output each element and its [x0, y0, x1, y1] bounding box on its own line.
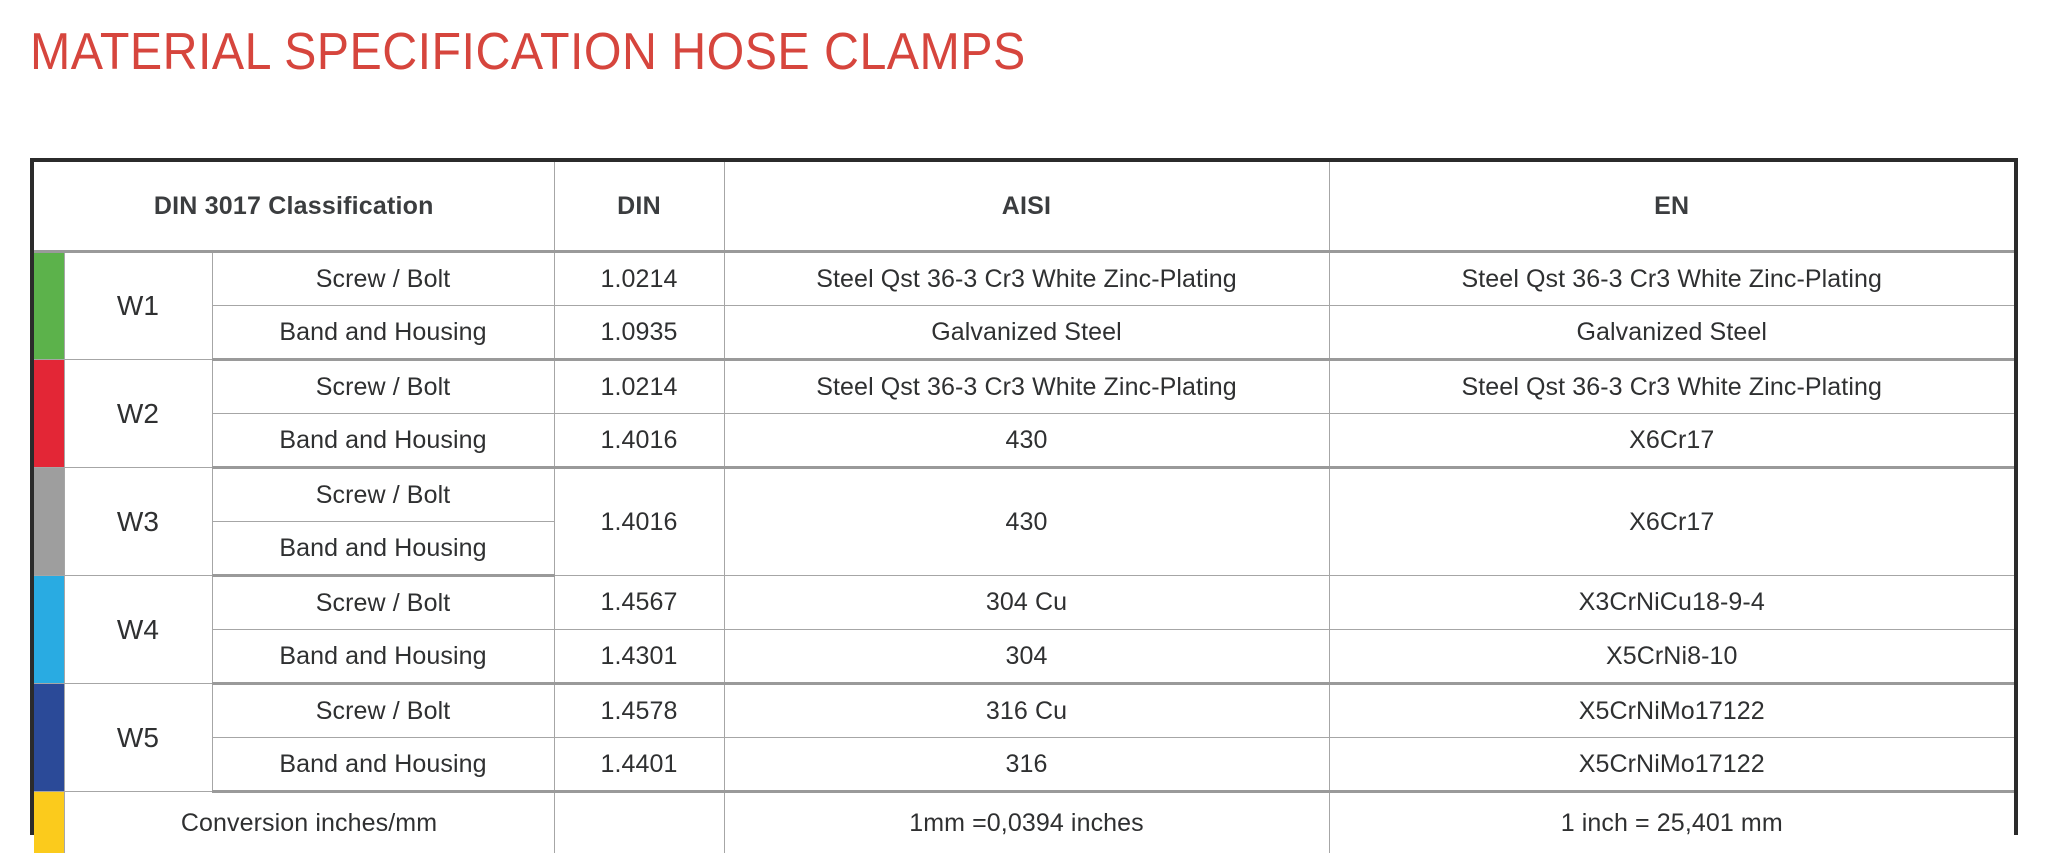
en-value: Steel Qst 36-3 Cr3 White Zinc-Plating: [1329, 360, 2014, 414]
table-row: W4 Screw / Bolt 1.4567 304 Cu X3CrNiCu18…: [34, 576, 2014, 630]
en-value: X3CrNiCu18-9-4: [1329, 576, 2014, 630]
table-row: W5 Screw / Bolt 1.4578 316 Cu X5CrNiMo17…: [34, 684, 2014, 738]
part-label: Screw / Bolt: [212, 468, 554, 522]
swatch-fill: [34, 468, 64, 575]
table-row: Band and Housing 1.4401 316 X5CrNiMo1712…: [34, 738, 2014, 792]
group-code-w3: W3: [64, 468, 212, 576]
color-swatch-w3: [34, 468, 64, 576]
part-label: Band and Housing: [212, 630, 554, 684]
part-label: Screw / Bolt: [212, 684, 554, 738]
din-value: 1.4301: [554, 630, 724, 684]
part-label: Band and Housing: [212, 306, 554, 360]
page-title: MATERIAL SPECIFICATION HOSE CLAMPS: [30, 22, 1026, 82]
din-value: 1.0214: [554, 252, 724, 306]
aisi-value: 430: [724, 414, 1329, 468]
en-value: X5CrNiMo17122: [1329, 684, 2014, 738]
color-swatch-w2: [34, 360, 64, 468]
conversion-inch-to-mm: 1 inch = 25,401 mm: [1329, 792, 2014, 854]
swatch-fill: [34, 684, 64, 791]
column-header-en: EN: [1329, 162, 2014, 252]
aisi-value: 316 Cu: [724, 684, 1329, 738]
table-row: W1 Screw / Bolt 1.0214 Steel Qst 36-3 Cr…: [34, 252, 2014, 306]
group-code-w1: W1: [64, 252, 212, 360]
conversion-din-empty: [554, 792, 724, 854]
table-row: W2 Screw / Bolt 1.0214 Steel Qst 36-3 Cr…: [34, 360, 2014, 414]
color-swatch-w5: [34, 684, 64, 792]
en-value: X6Cr17: [1329, 414, 2014, 468]
aisi-value: Galvanized Steel: [724, 306, 1329, 360]
part-label: Band and Housing: [212, 522, 554, 576]
din-value: 1.4578: [554, 684, 724, 738]
conversion-row: Conversion inches/mm 1mm =0,0394 inches …: [34, 792, 2014, 854]
aisi-value: 316: [724, 738, 1329, 792]
conversion-label: Conversion inches/mm: [64, 792, 554, 854]
column-header-classification: DIN 3017 Classification: [34, 162, 554, 252]
swatch-fill: [34, 360, 64, 467]
column-header-aisi: AISI: [724, 162, 1329, 252]
part-label: Screw / Bolt: [212, 252, 554, 306]
part-label: Band and Housing: [212, 738, 554, 792]
en-value: Galvanized Steel: [1329, 306, 2014, 360]
din-value: 1.0214: [554, 360, 724, 414]
color-swatch-w4: [34, 576, 64, 684]
aisi-value: Steel Qst 36-3 Cr3 White Zinc-Plating: [724, 360, 1329, 414]
group-code-w5: W5: [64, 684, 212, 792]
document-page: MATERIAL SPECIFICATION HOSE CLAMPS DIN 3…: [0, 0, 2047, 868]
en-value: X5CrNiMo17122: [1329, 738, 2014, 792]
table-row: Band and Housing 1.4016 430 X6Cr17: [34, 414, 2014, 468]
group-code-w4: W4: [64, 576, 212, 684]
color-swatch-conversion: [34, 792, 64, 854]
swatch-fill: [34, 253, 64, 359]
swatch-fill: [34, 792, 64, 853]
din-value: 1.4016: [554, 468, 724, 576]
table-header-row: DIN 3017 Classification DIN AISI EN: [34, 162, 2014, 252]
en-value: X5CrNi8-10: [1329, 630, 2014, 684]
table-row: Band and Housing 1.0935 Galvanized Steel…: [34, 306, 2014, 360]
part-label: Screw / Bolt: [212, 360, 554, 414]
conversion-mm-to-inches: 1mm =0,0394 inches: [724, 792, 1329, 854]
table-body: W1 Screw / Bolt 1.0214 Steel Qst 36-3 Cr…: [34, 252, 2014, 854]
din-value: 1.4567: [554, 576, 724, 630]
aisi-value: 304: [724, 630, 1329, 684]
en-value: Steel Qst 36-3 Cr3 White Zinc-Plating: [1329, 252, 2014, 306]
material-specification-table: DIN 3017 Classification DIN AISI EN W1 S…: [30, 158, 2018, 835]
aisi-value: 304 Cu: [724, 576, 1329, 630]
column-header-din: DIN: [554, 162, 724, 252]
group-code-w2: W2: [64, 360, 212, 468]
din-value: 1.4401: [554, 738, 724, 792]
table-row: W3 Screw / Bolt 1.4016 430 X6Cr17: [34, 468, 2014, 522]
swatch-fill: [34, 576, 64, 683]
part-label: Band and Housing: [212, 414, 554, 468]
color-swatch-w1: [34, 252, 64, 360]
din-value: 1.4016: [554, 414, 724, 468]
table-row: Band and Housing 1.4301 304 X5CrNi8-10: [34, 630, 2014, 684]
en-value: X6Cr17: [1329, 468, 2014, 576]
aisi-value: Steel Qst 36-3 Cr3 White Zinc-Plating: [724, 252, 1329, 306]
din-value: 1.0935: [554, 306, 724, 360]
aisi-value: 430: [724, 468, 1329, 576]
part-label: Screw / Bolt: [212, 576, 554, 630]
spec-table: DIN 3017 Classification DIN AISI EN W1 S…: [34, 162, 2014, 853]
